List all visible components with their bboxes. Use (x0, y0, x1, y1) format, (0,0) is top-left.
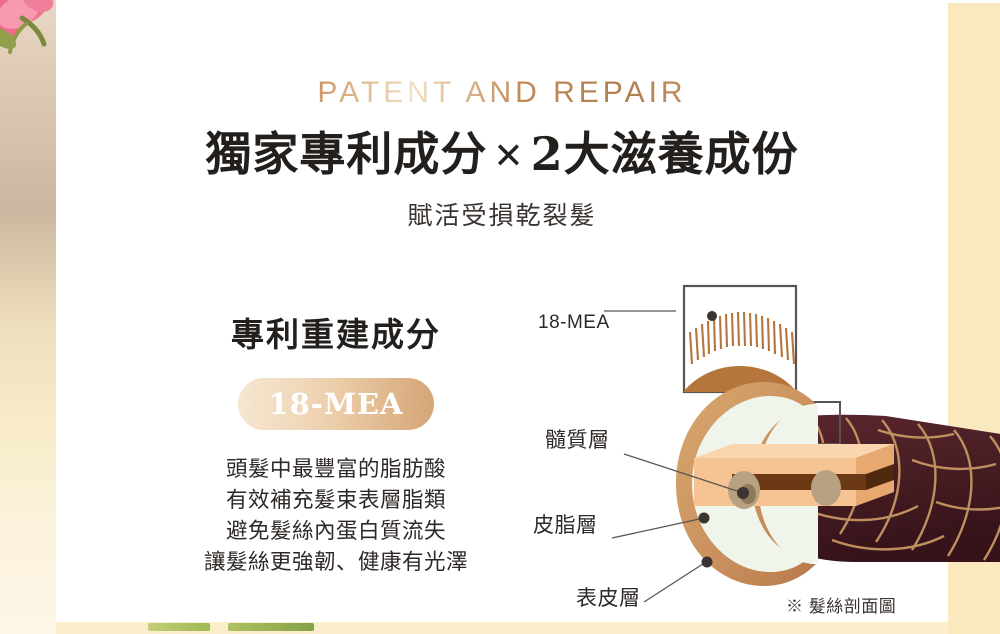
subtitle: 賦活受損乾裂髮 (56, 196, 948, 232)
right-decor-strip-cap (948, 0, 1000, 3)
list-item: 有效補充髮束表層脂類 (186, 485, 486, 516)
headline-left: 獨家專利成分 (205, 127, 487, 181)
benefit-list: 頭髮中最豐富的脂肪酸 有效補充髮束表層脂類 避免髮絲內蛋白質流失 讓髮絲更強韌、… (186, 454, 486, 578)
badge-label: 18-MEA (268, 387, 403, 421)
content-panel: PATENT AND REPAIR 獨家專利成分✕2大滋養成份 賦活受損乾裂髮 … (56, 0, 948, 622)
label-medulla: 髓質層 (545, 424, 610, 454)
list-item: 讓髮絲更強韌、健康有光澤 (186, 547, 486, 578)
ingredient-column: 專利重建成分 18-MEA 頭髮中最豐富的脂肪酸 有效補充髮束表層脂類 避免髮絲… (186, 308, 486, 578)
list-item: 避免髮絲內蛋白質流失 (186, 516, 486, 547)
label-sebum: 皮脂層 (533, 509, 598, 539)
list-item: 頭髮中最豐富的脂肪酸 (186, 454, 486, 485)
left-decor-strip (0, 0, 56, 634)
page-title: 獨家專利成分✕2大滋養成份 (56, 118, 948, 184)
times-icon: ✕ (487, 135, 530, 176)
eyebrow-text: PATENT AND REPAIR (56, 76, 948, 110)
section-title: 專利重建成分 (186, 308, 486, 356)
bottom-leaf-decor (148, 623, 210, 631)
headline-right: 2大滋養成份 (531, 127, 799, 181)
label-cuticle: 表皮層 (576, 582, 641, 612)
diagram-footnote: ※ 髮絲剖面圖 (786, 592, 896, 617)
promo-page: PATENT AND REPAIR 獨家專利成分✕2大滋養成份 賦活受損乾裂髮 … (0, 0, 1000, 634)
bottom-leaf-decor (228, 623, 314, 631)
label-18-mea: 18-MEA (538, 312, 610, 334)
ingredient-badge: 18-MEA (238, 378, 434, 430)
